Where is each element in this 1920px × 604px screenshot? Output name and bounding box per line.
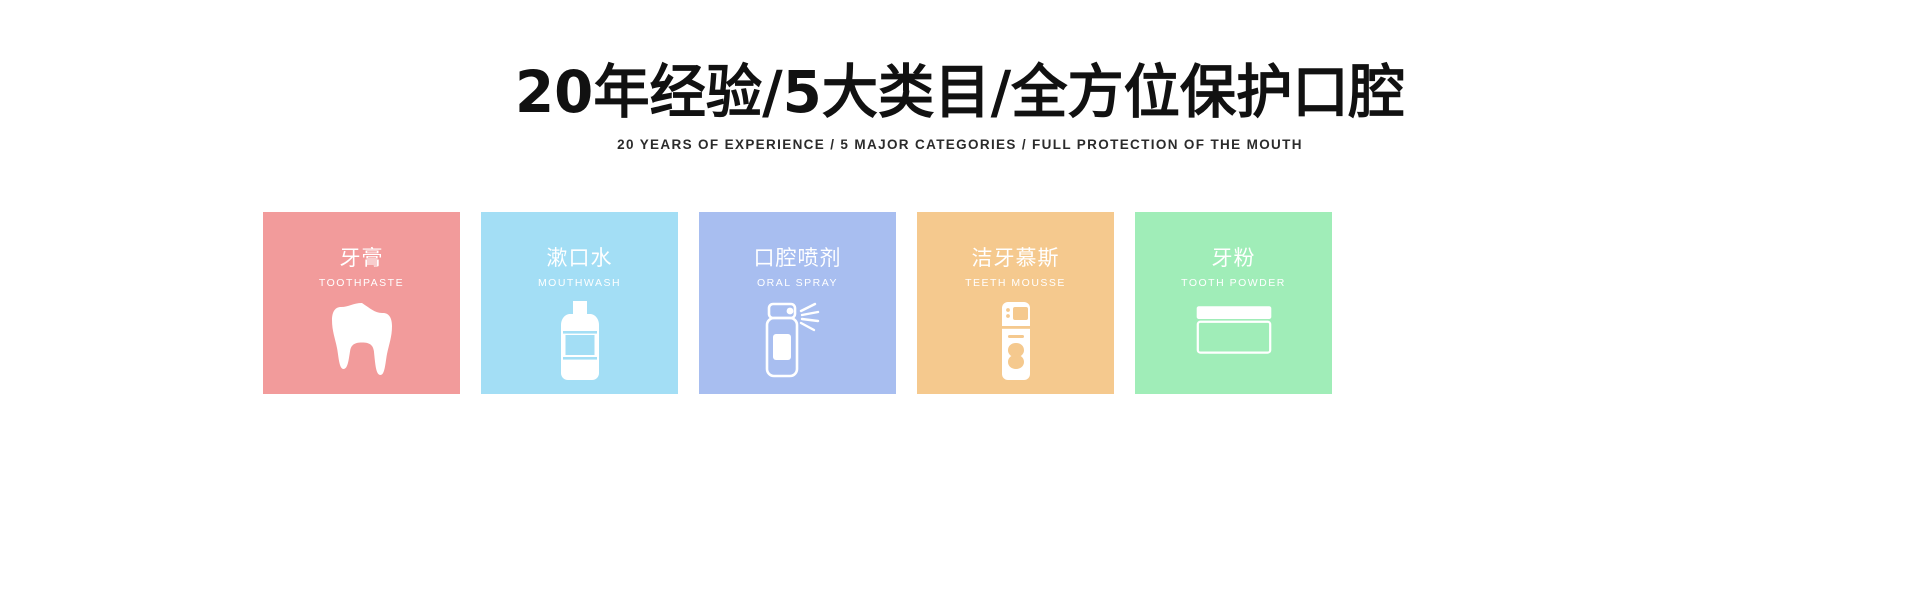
page-subtitle: 20 YEARS OF EXPERIENCE / 5 MAJOR CATEGOR… (0, 123, 1920, 152)
tooth-icon (323, 301, 401, 383)
category-label-en: TOOTHPASTE (319, 278, 404, 289)
spray-bottle-icon (759, 301, 837, 383)
category-label-cn: 漱口水 (547, 248, 613, 269)
category-label-cn: 牙粉 (1212, 248, 1256, 269)
category-label-cn: 口腔喷剂 (754, 248, 842, 269)
category-label-en: TEETH MOUSSE (965, 278, 1066, 289)
category-card-teeth-mousse[interactable]: 洁牙慕斯 TEETH MOUSSE (917, 212, 1114, 394)
category-label-en: MOUTHWASH (538, 278, 621, 289)
promo-banner: 20年经验/5大类目/全方位保护口腔 20 YEARS OF EXPERIENC… (0, 0, 1920, 604)
category-card-tooth-powder[interactable]: 牙粉 TOOTH POWDER (1135, 212, 1332, 394)
category-card-list: 牙膏 TOOTHPASTE 漱口水 MOUTHWASH (263, 212, 1332, 394)
mousse-pump-bottle-icon (977, 301, 1055, 383)
category-label-en: ORAL SPRAY (757, 278, 838, 289)
category-label-cn: 牙膏 (340, 248, 384, 269)
category-card-mouthwash[interactable]: 漱口水 MOUTHWASH (481, 212, 678, 394)
powder-jar-icon (1195, 301, 1273, 383)
page-title: 20年经验/5大类目/全方位保护口腔 (29, 0, 1891, 123)
heading-block: 20年经验/5大类目/全方位保护口腔 20 YEARS OF EXPERIENC… (0, 0, 1920, 152)
category-card-toothpaste[interactable]: 牙膏 TOOTHPASTE (263, 212, 460, 394)
mouthwash-bottle-icon (541, 301, 619, 383)
category-label-cn: 洁牙慕斯 (972, 248, 1060, 269)
category-label-en: TOOTH POWDER (1181, 278, 1286, 289)
category-card-oral-spray[interactable]: 口腔喷剂 ORAL SPRAY (699, 212, 896, 394)
